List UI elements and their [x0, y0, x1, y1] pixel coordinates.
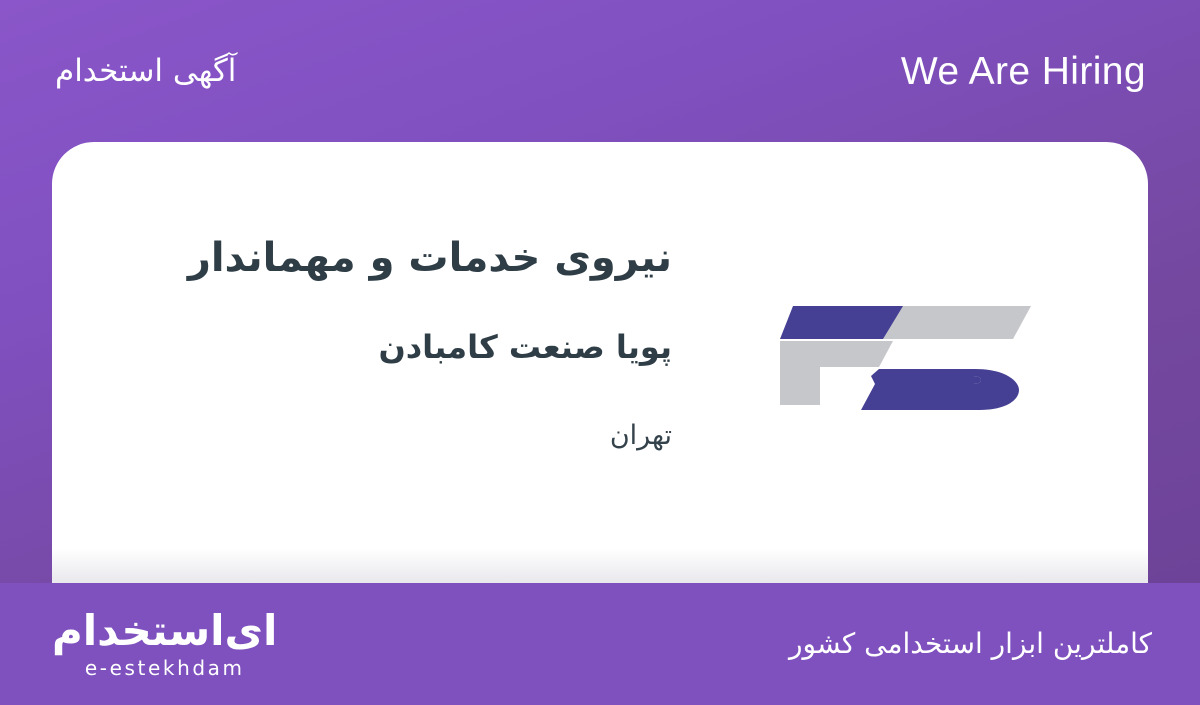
e-estekhdam-brand-logo[interactable]: ای‌استخدام e-estekhdam — [52, 610, 277, 678]
brand-name-fa: ای‌استخدام — [52, 610, 277, 652]
ps-monogram-icon — [775, 290, 1035, 418]
footer-bar: کاملترین ابزار استخدامی کشور ای‌استخدام … — [0, 583, 1200, 705]
hiring-headline-en: We Are Hiring — [901, 52, 1146, 91]
header-bar: We Are Hiring آگهی استخدام — [0, 0, 1200, 142]
job-card-content: نیروی خدمات و مهماندار پویا صنعت کامبادن… — [52, 142, 1148, 583]
job-location: تهران — [100, 419, 672, 453]
company-logo-area — [672, 142, 1148, 418]
hiring-headline-fa: آگهی استخدام — [55, 56, 236, 87]
job-title: نیروی خدمات و مهماندار — [100, 233, 672, 283]
company-name: پویا صنعت کامبادن — [100, 327, 672, 367]
job-card[interactable]: نیروی خدمات و مهماندار پویا صنعت کامبادن… — [52, 142, 1148, 583]
footer-tagline: کاملترین ابزار استخدامی کشور — [789, 630, 1152, 658]
job-ad-card-screen: We Are Hiring آگهی استخدام نیروی خدمات و… — [0, 0, 1200, 705]
job-details: نیروی خدمات و مهماندار پویا صنعت کامبادن… — [52, 142, 672, 453]
brand-name-en: e-estekhdam — [85, 658, 245, 678]
